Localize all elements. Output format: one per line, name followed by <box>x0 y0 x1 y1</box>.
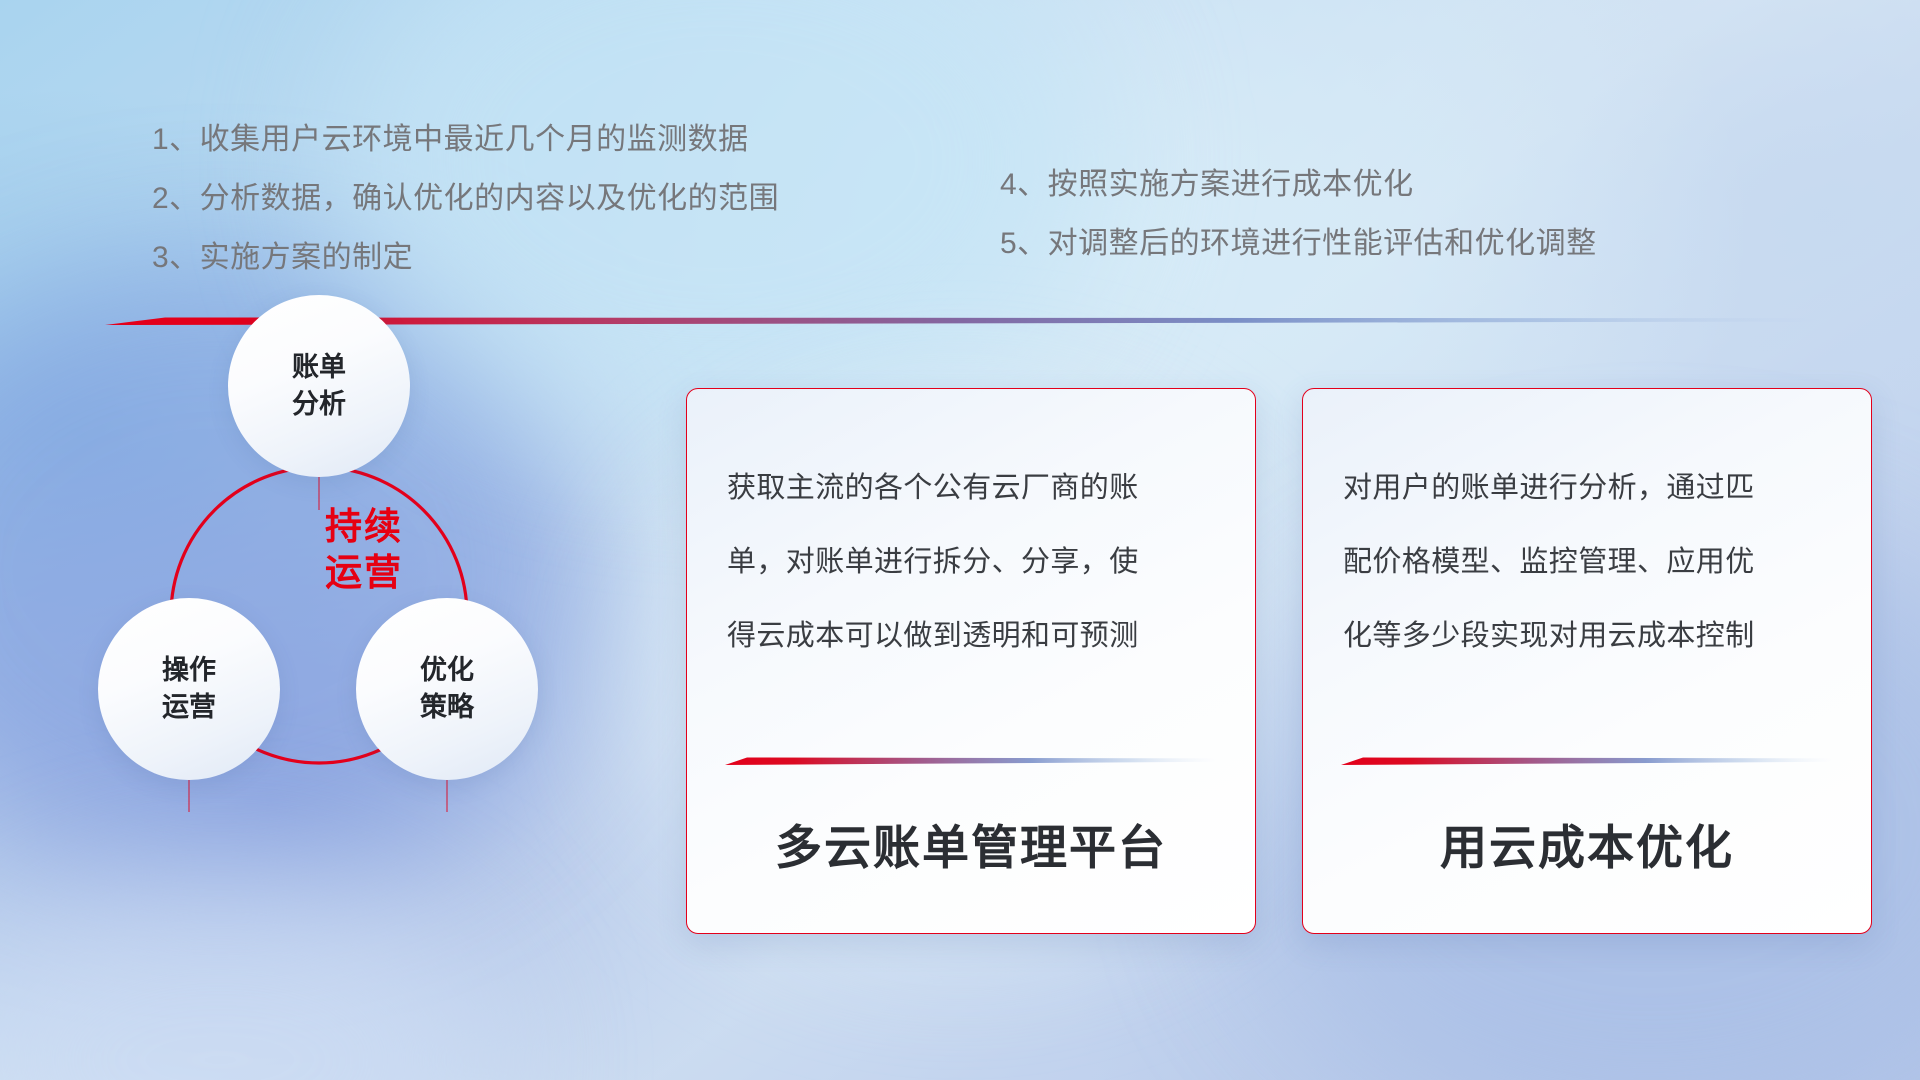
card-1-body: 获取主流的各个公有云厂商的账 单，对账单进行拆分、分享，使 得云成本可以做到透明… <box>727 451 1221 673</box>
venn-lobe-optimization-strategy[interactable]: 优化 策略 <box>356 598 538 780</box>
venn-center-label: 持续 运营 <box>264 490 464 610</box>
venn-lobe-top-line2: 分析 <box>292 386 346 423</box>
venn-lobe-operations[interactable]: 操作 运营 <box>98 598 280 780</box>
card-2-body-line-2: 配价格模型、监控管理、应用优 <box>1343 525 1837 599</box>
slide-canvas: 1、收集用户云环境中最近几个月的监测数据 2、分析数据，确认优化的内容以及优化的… <box>0 0 1920 1080</box>
venn-lobe-bill-analysis[interactable]: 账单 分析 <box>228 295 410 477</box>
card-1-body-line-2: 单，对账单进行拆分、分享，使 <box>727 525 1221 599</box>
card-2-body: 对用户的账单进行分析，通过匹 配价格模型、监控管理、应用优 化等多少段实现对用云… <box>1343 451 1837 673</box>
card-2-gradient-rule <box>1341 755 1833 766</box>
step-item-5: 5、对调整后的环境进行性能评估和优化调整 <box>1000 214 1597 273</box>
steps-right-column: 4、按照实施方案进行成本优化 5、对调整后的环境进行性能评估和优化调整 <box>1000 155 1597 273</box>
venn-diagram: 账单 分析 操作 运营 优化 策略 持续 运营 <box>100 350 660 950</box>
card-1-title: 多云账单管理平台 <box>687 809 1255 878</box>
card-cloud-cost-optimization[interactable]: 对用户的账单进行分析，通过匹 配价格模型、监控管理、应用优 化等多少段实现对用云… <box>1302 388 1872 934</box>
steps-left-column: 1、收集用户云环境中最近几个月的监测数据 2、分析数据，确认优化的内容以及优化的… <box>152 110 779 287</box>
card-multicloud-billing-platform[interactable]: 获取主流的各个公有云厂商的账 单，对账单进行拆分、分享，使 得云成本可以做到透明… <box>686 388 1256 934</box>
step-item-4: 4、按照实施方案进行成本优化 <box>1000 155 1597 214</box>
venn-lobe-left-line1: 操作 <box>162 652 216 689</box>
venn-lobe-right-line2: 策略 <box>420 689 474 726</box>
card-2-body-line-3: 化等多少段实现对用云成本控制 <box>1343 599 1837 673</box>
venn-center-line1: 持续 <box>325 504 403 550</box>
venn-lobe-top-line1: 账单 <box>292 349 346 386</box>
venn-lobe-right-line1: 优化 <box>420 652 474 689</box>
card-1-gradient-rule <box>725 755 1217 766</box>
venn-lobe-left-line2: 运营 <box>162 689 216 726</box>
card-2-body-line-1: 对用户的账单进行分析，通过匹 <box>1343 451 1837 525</box>
step-item-3: 3、实施方案的制定 <box>152 228 779 287</box>
card-1-body-line-1: 获取主流的各个公有云厂商的账 <box>727 451 1221 525</box>
step-item-1: 1、收集用户云环境中最近几个月的监测数据 <box>152 110 779 169</box>
step-item-2: 2、分析数据，确认优化的内容以及优化的范围 <box>152 169 779 228</box>
card-2-title: 用云成本优化 <box>1303 809 1871 878</box>
venn-center-line2: 运营 <box>325 550 403 596</box>
card-1-body-line-3: 得云成本可以做到透明和可预测 <box>727 599 1221 673</box>
